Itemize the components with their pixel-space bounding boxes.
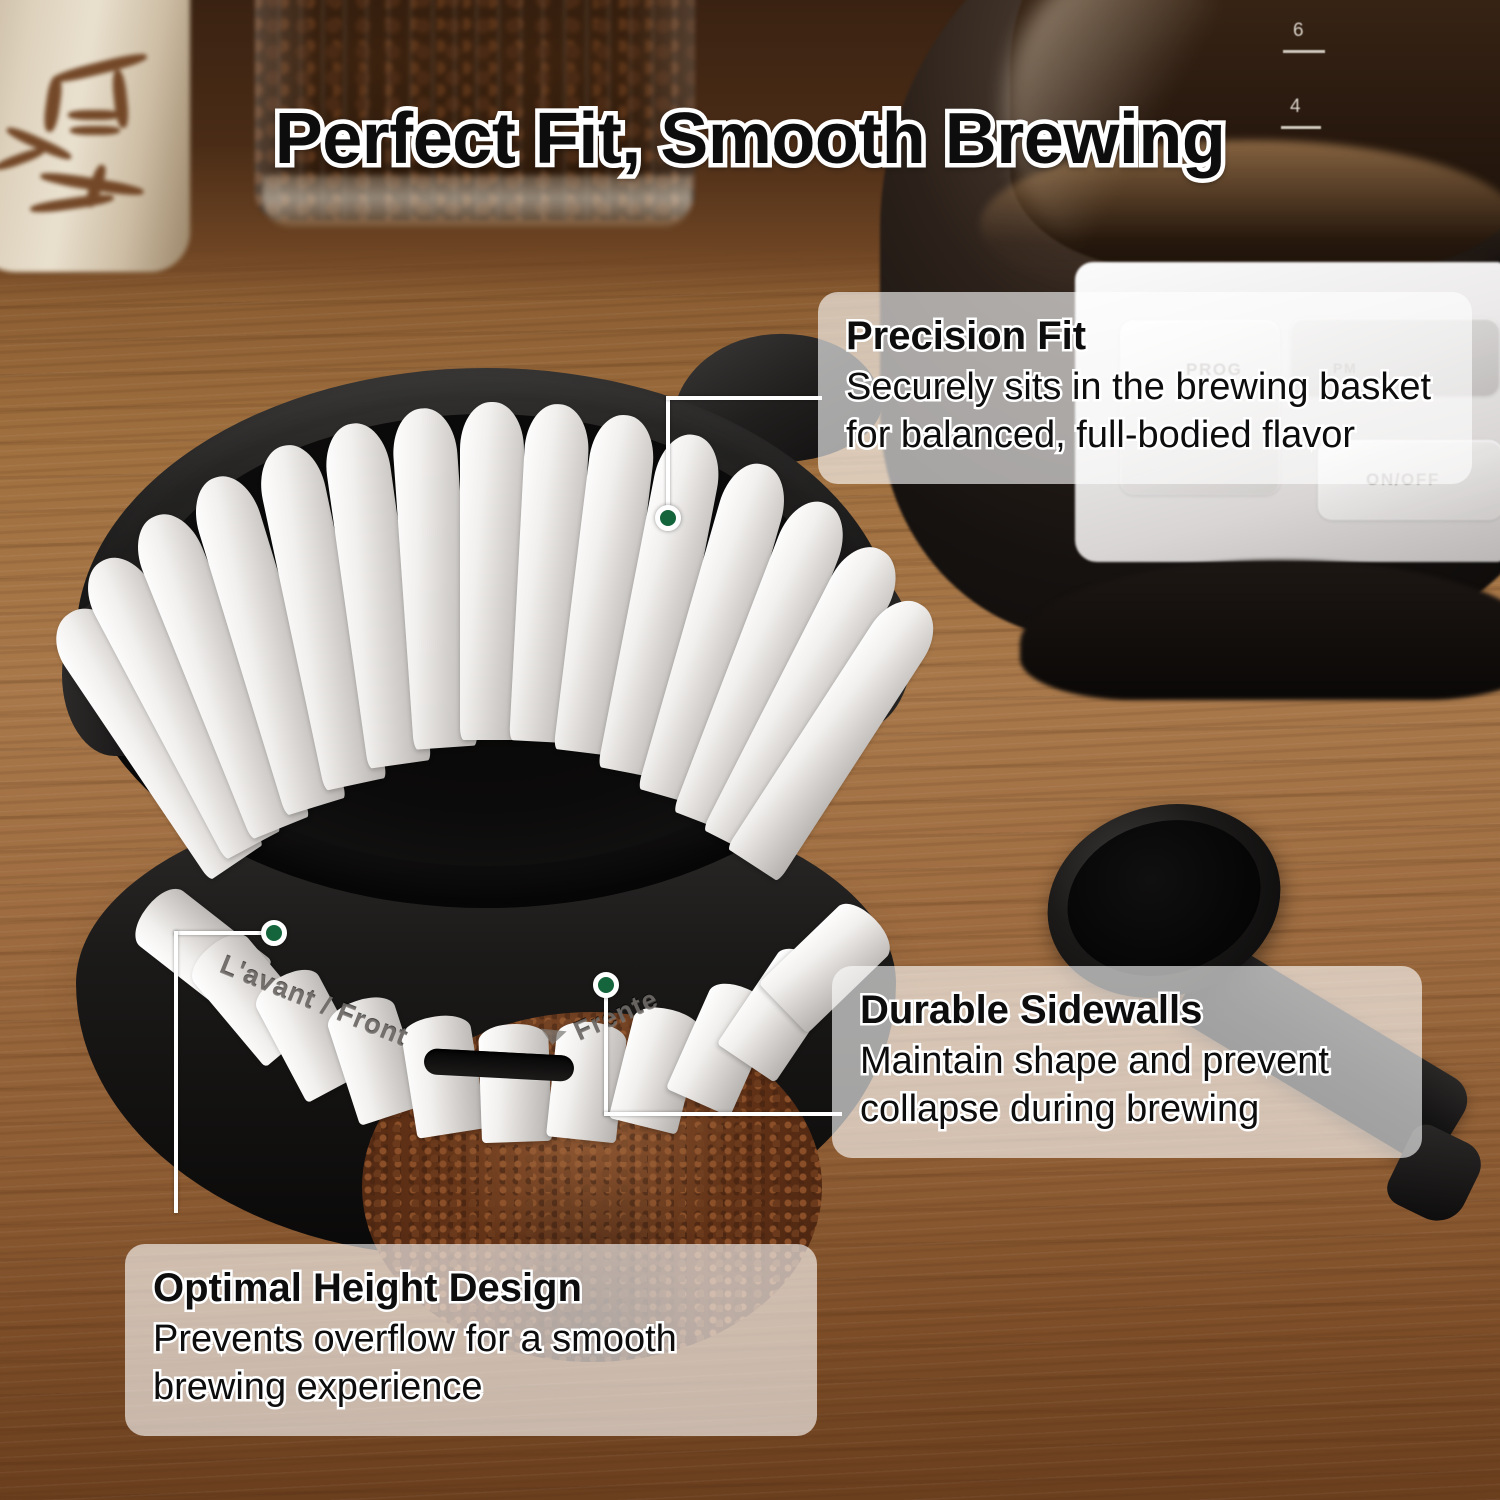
callout-durable-body: Maintain shape and prevent collapse duri… <box>860 1038 1396 1134</box>
callout-precision-body: Securely sits in the brewing basket for … <box>846 364 1446 460</box>
callout-optimal-title: Optimal Height Design <box>153 1266 791 1310</box>
callout-optimal-body: Prevents overflow for a smooth brewing e… <box>153 1316 791 1412</box>
callout-durable-title: Durable Sidewalls <box>860 988 1396 1032</box>
callout-precision-fit: Precision Fit Securely sits in the brewi… <box>818 292 1472 484</box>
leader-line-precision-horizontal <box>666 396 822 400</box>
infographic-canvas: 6 4 PROG PM ON/OFF <box>0 0 1500 1500</box>
callout-durable-sidewalls: Durable Sidewalls Maintain shape and pre… <box>832 966 1422 1158</box>
page-title: Perfect Fit, Smooth Brewing <box>0 98 1500 180</box>
callout-precision-title: Precision Fit <box>846 314 1446 358</box>
leader-line-precision-vertical <box>666 398 670 514</box>
leader-line-durable-horizontal <box>604 1112 842 1116</box>
leader-line-optimal-vertical <box>174 931 178 1213</box>
callout-optimal-height: Optimal Height Design Prevents overflow … <box>125 1244 817 1436</box>
marker-dot-optimal <box>261 920 287 946</box>
marker-dot-precision <box>655 505 681 531</box>
annotation-overlay: Perfect Fit, Smooth Brewing Precision Fi… <box>0 0 1500 1500</box>
marker-dot-durable <box>593 972 619 998</box>
leader-line-durable-vertical <box>604 992 608 1116</box>
